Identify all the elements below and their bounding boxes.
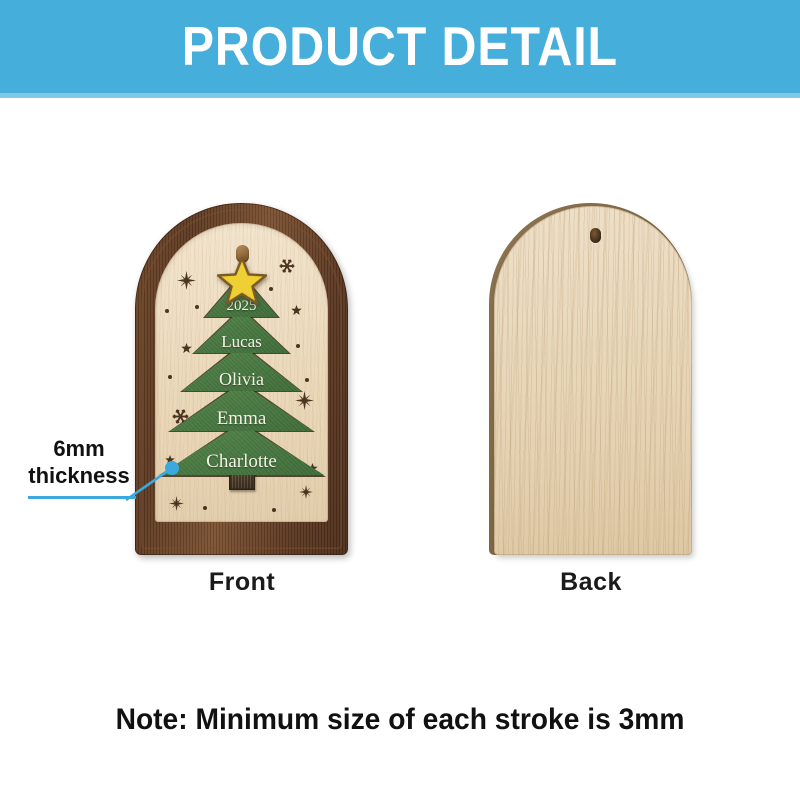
tree-tier-label: Charlotte: [206, 452, 277, 475]
tree-tier-label: Emma: [217, 409, 267, 431]
page-title: PRODUCT DETAIL: [182, 19, 618, 74]
hanging-hole-icon: [590, 228, 601, 243]
back-ornament-image: [489, 203, 692, 555]
tree-tier-label: Olivia: [219, 370, 264, 391]
tree-tier-label: Lucas: [221, 333, 262, 353]
minimum-stroke-note: Note: Minimum size of each stroke is 3mm: [24, 703, 776, 737]
thickness-word: thickness: [20, 463, 138, 490]
caption-front: Front: [200, 568, 284, 597]
product-stage: Charlotte Emma Olivia Lucas 2025: [0, 98, 800, 800]
front-ornament-image: Charlotte Emma Olivia Lucas 2025: [135, 203, 348, 555]
thickness-callout: 6mm thickness: [20, 436, 155, 511]
caption-back: Back: [549, 568, 633, 597]
christmas-tree-graphic: Charlotte Emma Olivia Lucas 2025: [155, 223, 328, 522]
thickness-underline: [28, 496, 136, 499]
star-topper-icon: [217, 257, 267, 305]
thickness-label: 6mm thickness: [20, 436, 138, 490]
ornament-cream-panel: Charlotte Emma Olivia Lucas 2025: [155, 223, 328, 522]
header-banner: PRODUCT DETAIL: [0, 0, 800, 93]
thickness-value: 6mm: [20, 436, 138, 463]
callout-anchor-dot: [165, 461, 179, 475]
tree-trunk: [229, 473, 255, 490]
back-wood-face: [494, 206, 692, 555]
